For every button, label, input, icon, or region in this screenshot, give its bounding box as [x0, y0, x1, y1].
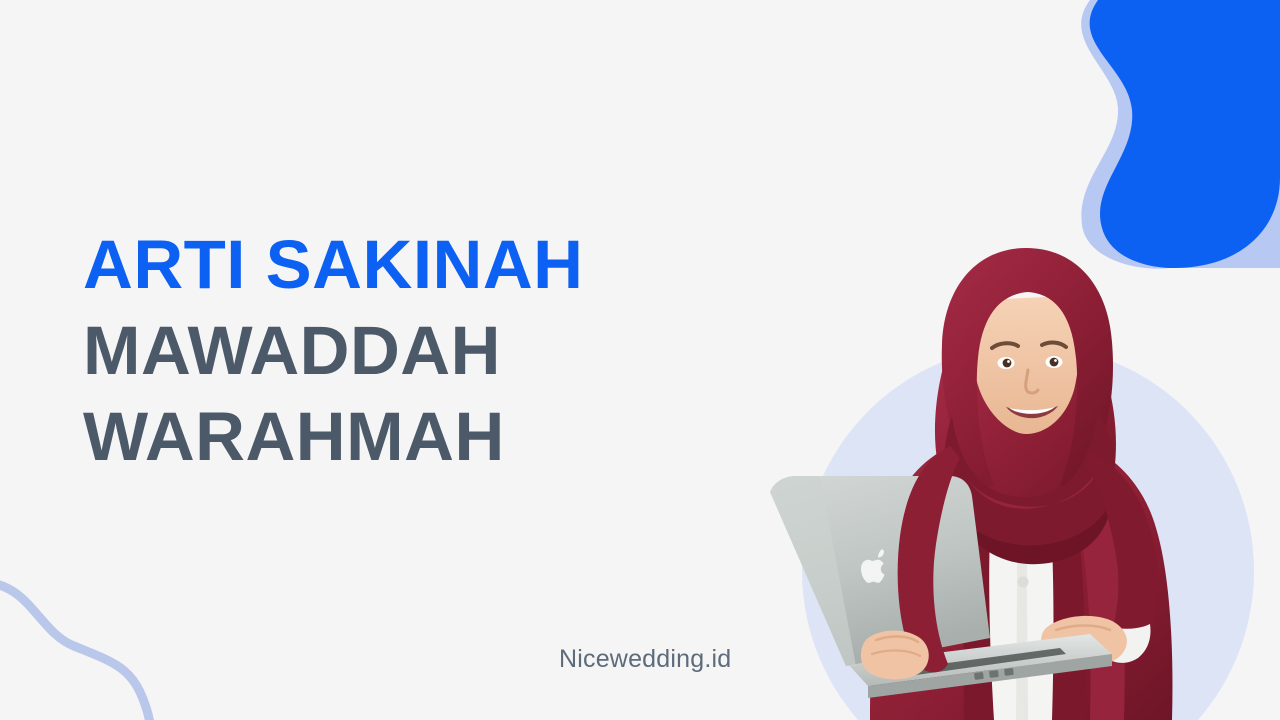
wave-path — [0, 582, 152, 720]
wave-line-decoration — [0, 570, 230, 720]
poster-canvas: ARTI SAKINAH MAWADDAH WARAHMAH Niceweddi… — [0, 0, 1280, 720]
hero-photo — [760, 230, 1280, 720]
hand-left — [861, 631, 929, 680]
blob-primary-shape — [1090, 0, 1280, 268]
page-title: ARTI SAKINAH MAWADDAH WARAHMAH — [83, 222, 723, 480]
person-illustration — [760, 230, 1280, 720]
headline-line-1: ARTI SAKINAH — [83, 222, 723, 308]
brand-watermark: Nicewedding.id — [559, 645, 731, 674]
headline-line-2: MAWADDAH — [83, 308, 723, 394]
blob-secondary-shape — [1081, 0, 1280, 269]
headline-line-3: WARAHMAH — [83, 394, 723, 480]
